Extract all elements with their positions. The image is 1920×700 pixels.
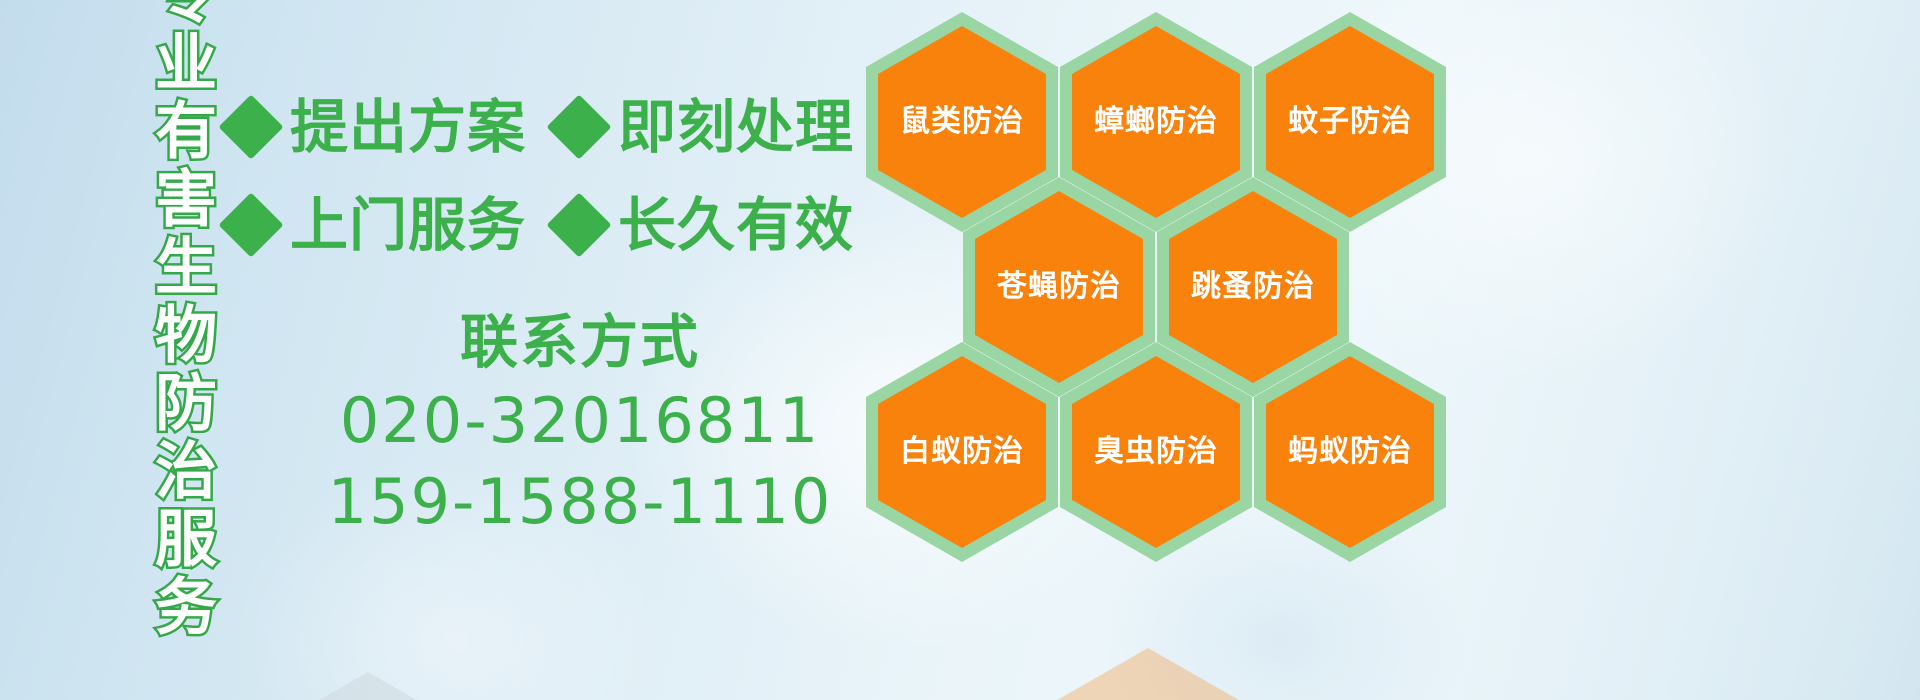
phone-number-landline[interactable]: 020-32016811 [300, 381, 860, 462]
service-label: 蚊子防治 [1288, 107, 1412, 137]
pest-control-banner: 专业有害生物防治服务 提出方案 即刻处理 上门服务 长久有效 联系方式 [0, 0, 1920, 700]
service-honeycomb: 鼠类防治 蟑螂防治 蚊子防治 苍蝇防治 跳蚤防治 白蚁防治 [862, 4, 1462, 564]
decorative-hex-ghost-right [1052, 648, 1244, 700]
hex-inner: 鼠类防治 [878, 26, 1046, 218]
service-label: 鼠类防治 [900, 107, 1024, 137]
service-label: 蚂蚁防治 [1288, 437, 1412, 467]
diamond-icon [218, 192, 283, 257]
feature-item-long-lasting: 长久有效 [556, 196, 854, 254]
feature-label: 提出方案 [290, 98, 526, 156]
feature-row: 上门服务 长久有效 [228, 176, 868, 274]
feature-label: 即刻处理 [618, 98, 854, 156]
hex-inner: 蚊子防治 [1266, 26, 1434, 218]
feature-item-immediate-handling: 即刻处理 [556, 98, 854, 156]
diamond-icon [546, 94, 611, 159]
hex-inner: 臭虫防治 [1072, 356, 1240, 548]
service-label: 白蚁防治 [900, 437, 1024, 467]
hex-inner: 白蚁防治 [878, 356, 1046, 548]
hex-inner: 蟑螂防治 [1072, 26, 1240, 218]
contact-block: 联系方式 020-32016811 159-1588-1110 [300, 310, 860, 542]
feature-label: 长久有效 [618, 196, 854, 254]
feature-item-propose-plan: 提出方案 [228, 98, 526, 156]
diamond-icon [546, 192, 611, 257]
feature-item-onsite-service: 上门服务 [228, 196, 526, 254]
hex-inner: 苍蝇防治 [975, 191, 1143, 383]
phone-number-mobile[interactable]: 159-1588-1110 [300, 462, 860, 543]
feature-label: 上门服务 [290, 196, 526, 254]
service-label: 臭虫防治 [1094, 437, 1218, 467]
contact-heading: 联系方式 [300, 310, 860, 375]
diamond-icon [218, 94, 283, 159]
service-label: 跳蚤防治 [1191, 272, 1315, 302]
feature-list: 提出方案 即刻处理 上门服务 长久有效 [228, 78, 868, 274]
vertical-headline: 专业有害生物防治服务 [104, 12, 212, 592]
service-label: 苍蝇防治 [997, 272, 1121, 302]
hex-inner: 跳蚤防治 [1169, 191, 1337, 383]
feature-row: 提出方案 即刻处理 [228, 78, 868, 176]
decorative-hex-ghost-left [272, 672, 464, 700]
hex-inner: 蚂蚁防治 [1266, 356, 1434, 548]
service-label: 蟑螂防治 [1094, 107, 1218, 137]
